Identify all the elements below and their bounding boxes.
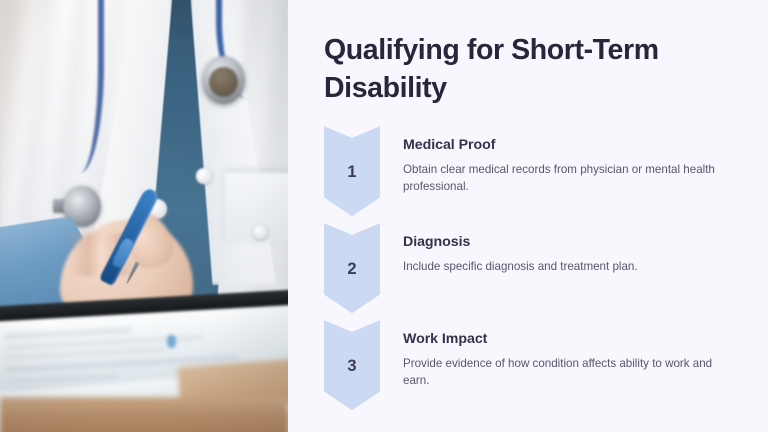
page-title: Qualifying for Short-Term Disability — [324, 32, 706, 107]
list-item: 1 Medical Proof Obtain clear medical rec… — [324, 126, 724, 216]
chevron-down-icon: 2 — [324, 223, 380, 313]
step-text-block: Diagnosis Include specific diagnosis and… — [380, 223, 724, 275]
step-number: 3 — [347, 358, 356, 375]
chevron-down-icon: 3 — [324, 320, 380, 410]
step-heading: Medical Proof — [403, 136, 724, 154]
slide-root: Qualifying for Short-Term Disability 1 M… — [0, 0, 768, 432]
list-item: 2 Diagnosis Include specific diagnosis a… — [324, 223, 724, 313]
step-description: Include specific diagnosis and treatment… — [403, 258, 715, 276]
step-text-block: Work Impact Provide evidence of how cond… — [380, 320, 724, 390]
step-heading: Diagnosis — [403, 233, 724, 251]
doctor-writing-photo — [0, 0, 288, 432]
step-number: 2 — [347, 261, 356, 278]
photo-depth-of-field-vignette — [0, 0, 288, 432]
chevron-down-icon: 1 — [324, 126, 380, 216]
steps-list: 1 Medical Proof Obtain clear medical rec… — [324, 126, 724, 410]
step-text-block: Medical Proof Obtain clear medical recor… — [380, 126, 724, 196]
step-number: 1 — [347, 164, 356, 181]
step-heading: Work Impact — [403, 330, 724, 348]
list-item: 3 Work Impact Provide evidence of how co… — [324, 320, 724, 410]
step-description: Provide evidence of how condition affect… — [403, 355, 715, 390]
step-description: Obtain clear medical records from physic… — [403, 161, 715, 196]
content-panel: Qualifying for Short-Term Disability 1 M… — [288, 0, 768, 432]
